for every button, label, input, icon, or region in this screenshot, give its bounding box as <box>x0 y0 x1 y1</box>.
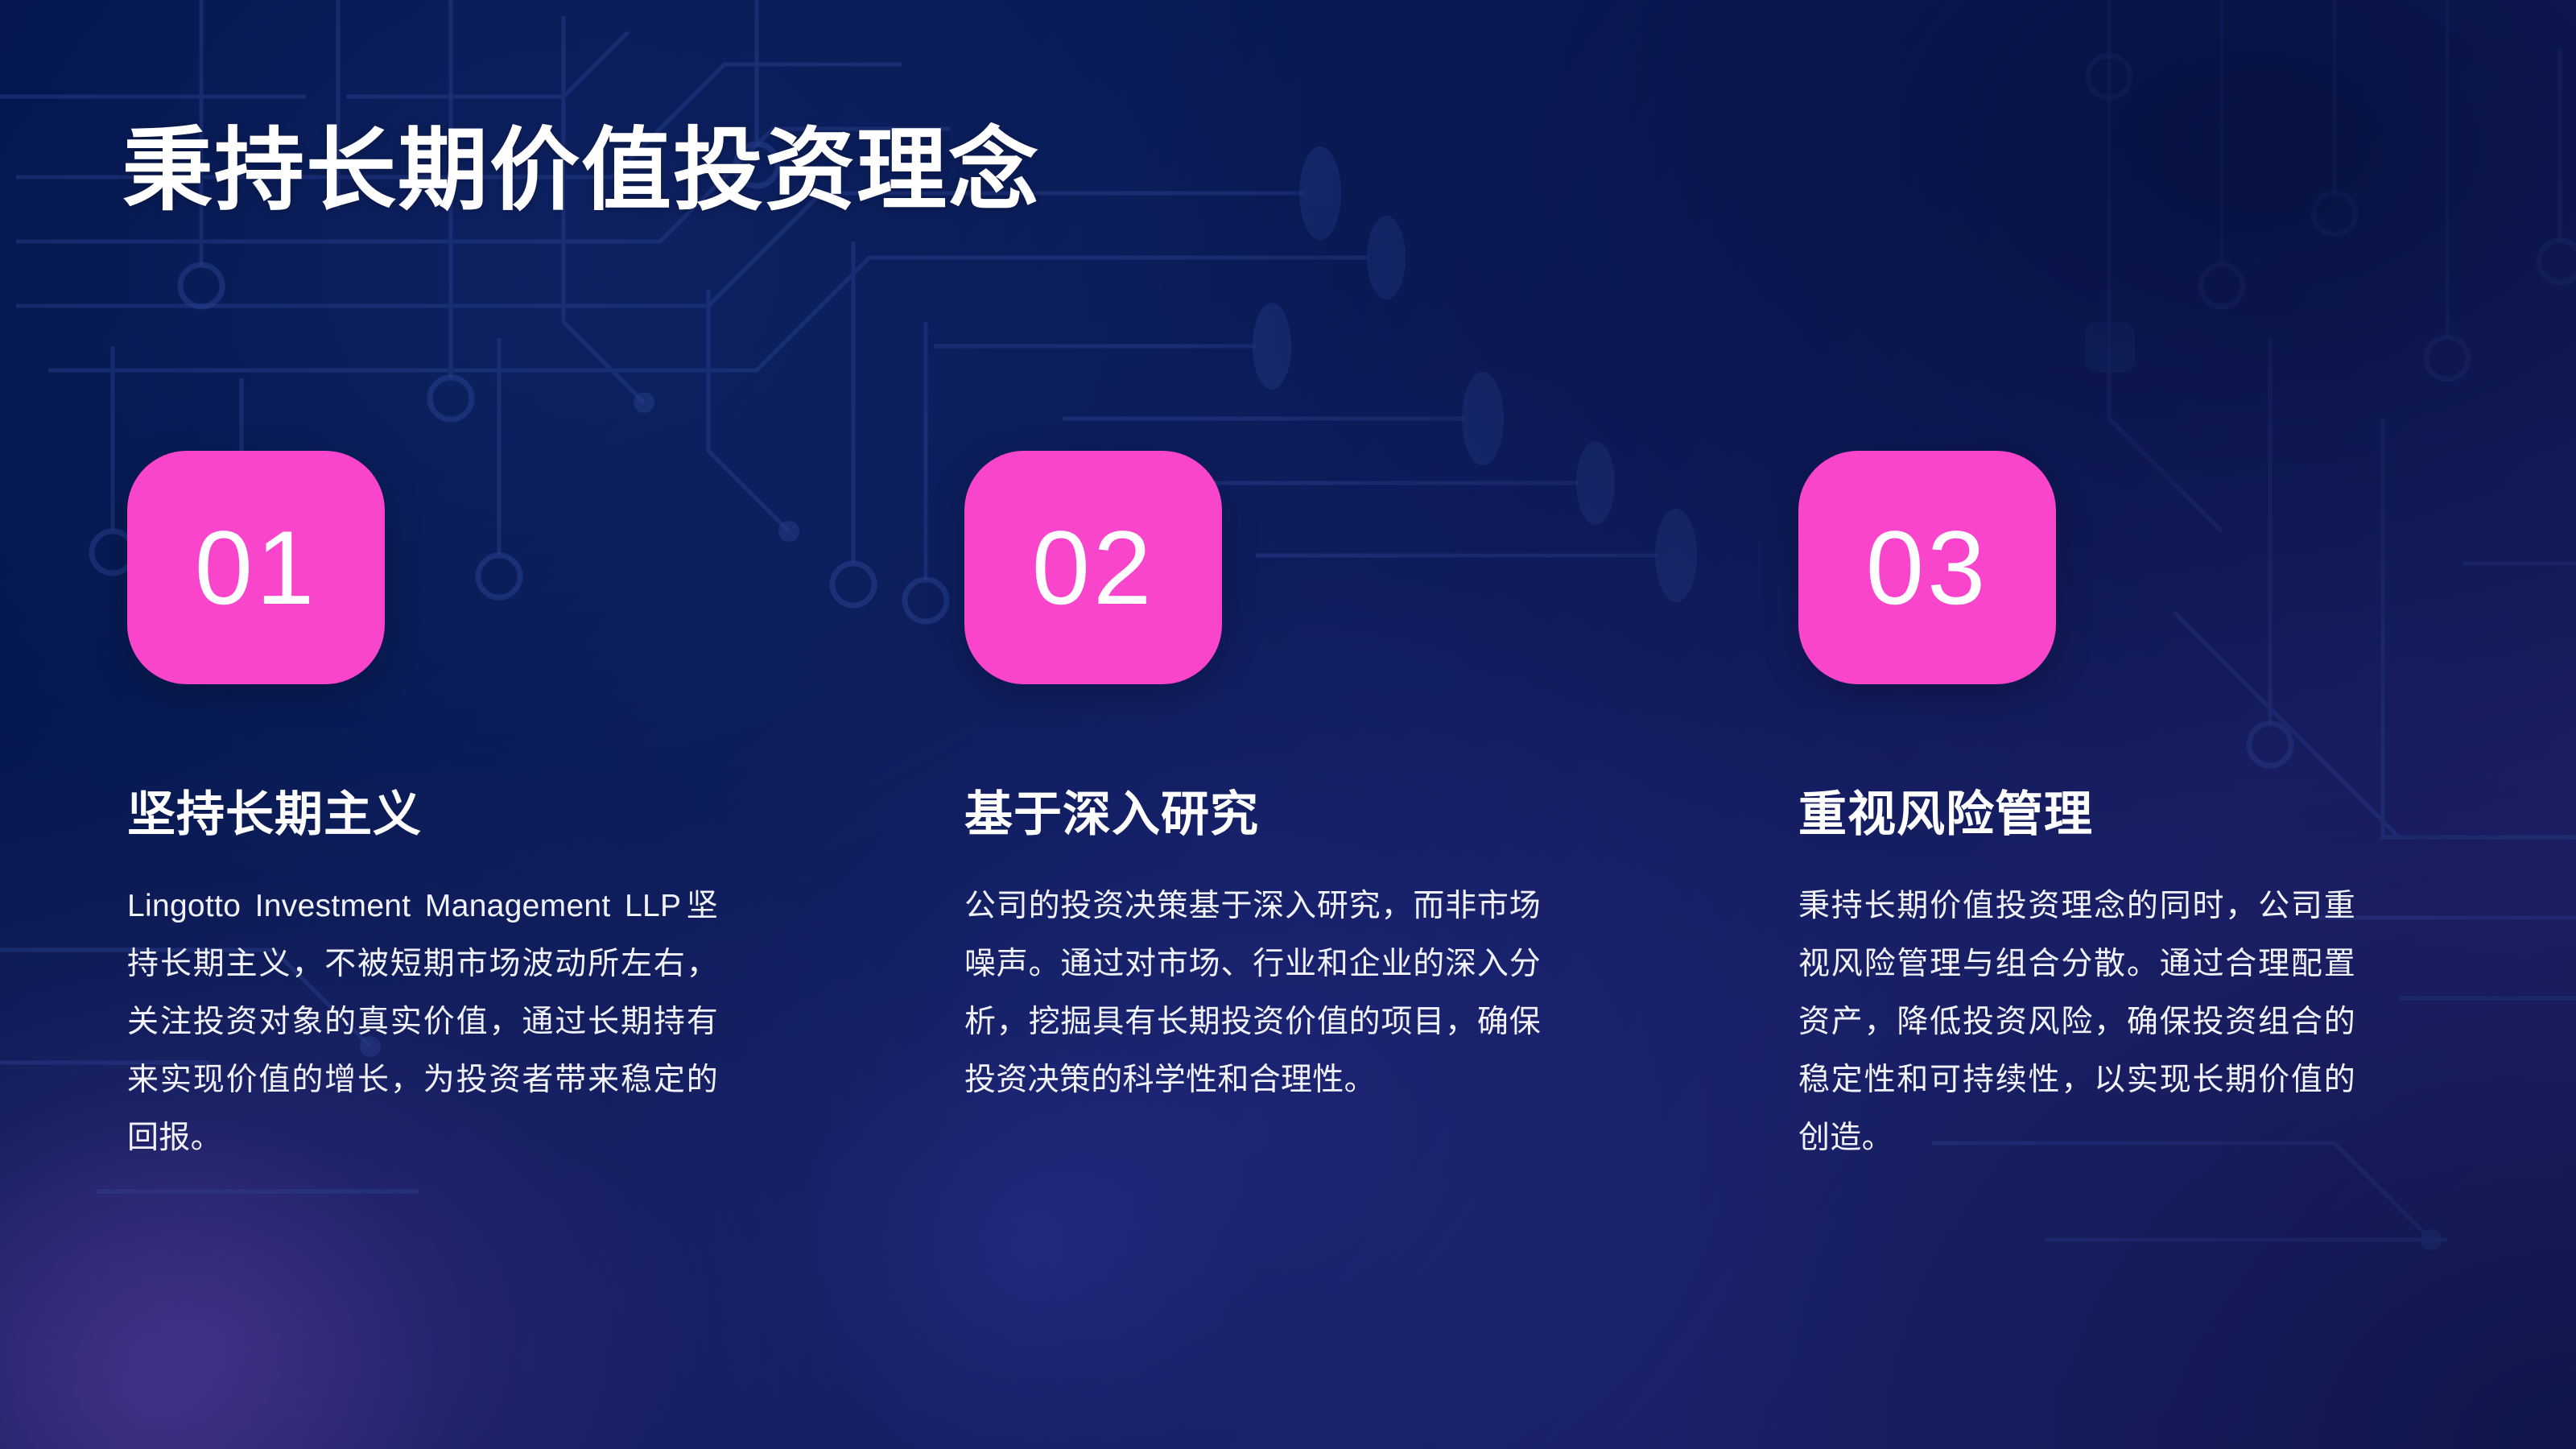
page-title: 秉持长期价值投资理念 <box>122 114 1040 227</box>
feature-card-1: 01 坚持长期主义 Lingotto Investment Management… <box>0 451 823 1167</box>
step-badge-2: 02 <box>964 451 1222 684</box>
slide-content: 秉持长期价值投资理念 01 坚持长期主义 Lingotto Investment… <box>0 0 2576 1449</box>
card-heading-3: 重视风险管理 <box>1798 786 2355 844</box>
feature-card-3: 03 重视风险管理 秉持长期价值投资理念的同时，公司重视风险管理与组合分散。通过… <box>1645 451 2468 1167</box>
card-heading-2: 基于深入研究 <box>964 786 1541 844</box>
step-number-3: 03 <box>1866 515 1989 620</box>
step-badge-3: 03 <box>1798 451 2056 684</box>
slide-root: 秉持长期价值投资理念 01 坚持长期主义 Lingotto Investment… <box>0 0 2576 1449</box>
step-badge-1: 01 <box>127 451 385 684</box>
feature-columns: 01 坚持长期主义 Lingotto Investment Management… <box>0 451 2576 1167</box>
step-number-2: 02 <box>1032 515 1155 620</box>
feature-card-2: 02 基于深入研究 公司的投资决策基于深入研究，而非市场噪声。通过对市场、行业和… <box>823 451 1645 1167</box>
card-heading-1: 坚持长期主义 <box>127 786 718 844</box>
card-body-2: 公司的投资决策基于深入研究，而非市场噪声。通过对市场、行业和企业的深入分析，挖掘… <box>964 877 1541 1109</box>
step-number-1: 01 <box>195 515 318 620</box>
card-body-1: Lingotto Investment Management LLP坚持长期主义… <box>127 877 718 1167</box>
card-body-3: 秉持长期价值投资理念的同时，公司重视风险管理与组合分散。通过合理配置资产，降低投… <box>1798 877 2355 1167</box>
